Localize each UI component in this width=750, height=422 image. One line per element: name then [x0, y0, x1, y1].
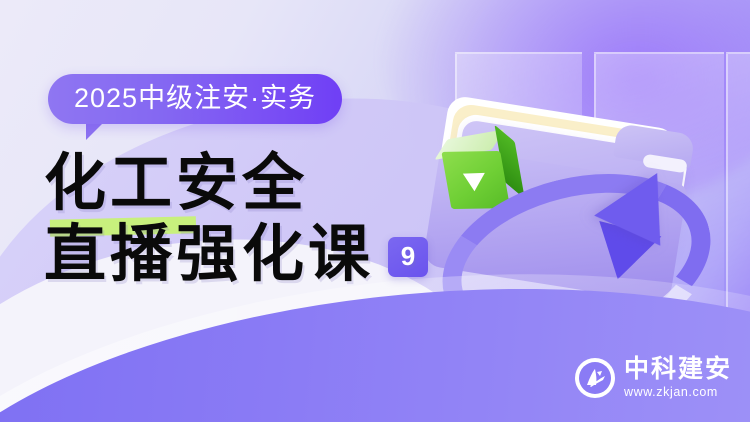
headline-line-1: 化工安全 — [44, 148, 428, 219]
headline-line-2: 直播强化课 — [44, 219, 374, 290]
headline-block: 化工安全 直播强化课 9 — [44, 148, 428, 289]
brand-text: 中科建安 www.zkjan.com — [624, 356, 732, 401]
course-tag-label: 2025中级注安·实务 — [74, 83, 316, 114]
zkjan-circle-monogram-icon — [575, 358, 615, 398]
brand-url: www.zkjan.com — [624, 384, 732, 400]
course-tag-pill: 2025中级注安·实务 — [48, 74, 342, 124]
course-banner: 2025中级注安·实务 化工安全 直播强化课 9 中科建安 www.zkjan.… — [0, 0, 750, 422]
brand-name: 中科建安 — [624, 356, 732, 382]
episode-badge: 9 — [388, 237, 428, 277]
brand-logo: 中科建安 www.zkjan.com — [575, 356, 732, 401]
headline-line-2-row: 直播强化课 9 — [44, 219, 428, 290]
